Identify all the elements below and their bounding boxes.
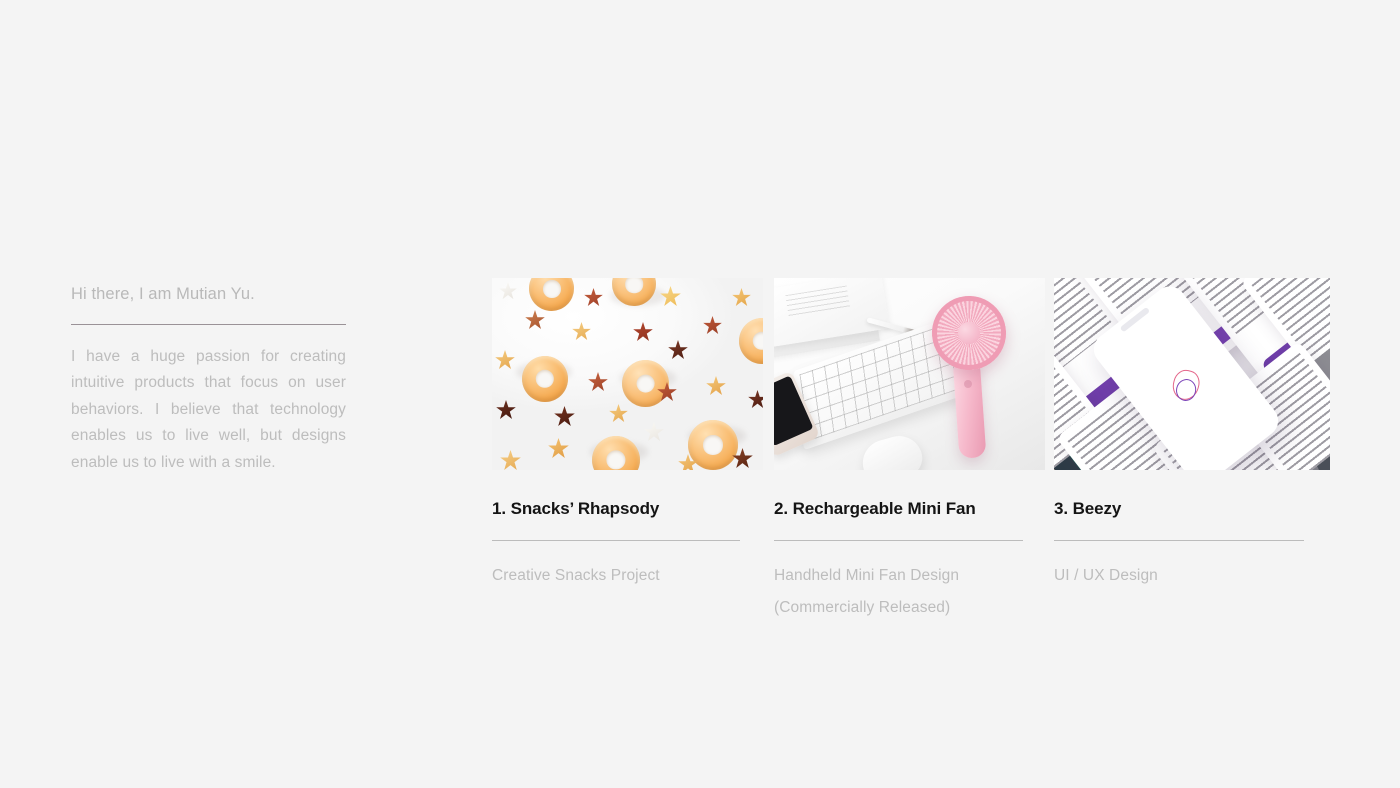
project-divider	[774, 540, 1023, 541]
intro-greeting: Hi there, I am Mutian Yu.	[71, 283, 346, 305]
project-subtitle-line1: Handheld Mini Fan Design	[774, 560, 1024, 592]
project-title: 1. Snacks’ Rhapsody	[492, 498, 763, 519]
project-title: 3. Beezy	[1054, 498, 1330, 519]
intro-divider	[71, 324, 346, 325]
project-divider	[1054, 540, 1304, 541]
project-title: 2. Rechargeable Mini Fan	[774, 498, 1045, 519]
project-grid: 1. Snacks’ Rhapsody Creative Snacks Proj…	[492, 278, 1330, 624]
project-subtitle: UI / UX Design	[1054, 560, 1330, 592]
project-card-snacks-rhapsody[interactable]: 1. Snacks’ Rhapsody Creative Snacks Proj…	[492, 278, 763, 592]
project-subtitle-line2: (Commercially Released)	[774, 592, 1024, 624]
project-subtitle: Creative Snacks Project	[492, 560, 763, 592]
intro-section: Hi there, I am Mutian Yu. I have a huge …	[71, 283, 346, 476]
project-divider	[492, 540, 740, 541]
beezy-ui-mockup-photo[interactable]	[1054, 278, 1330, 470]
snacks-flatlay-photo[interactable]	[492, 278, 763, 470]
project-card-beezy[interactable]: 3. Beezy UI / UX Design	[1054, 278, 1330, 592]
mini-fan-desk-photo[interactable]	[774, 278, 1045, 470]
intro-body-text: I have a huge passion for creating intui…	[71, 344, 346, 476]
project-subtitle: Handheld Mini Fan Design (Commercially R…	[774, 560, 1024, 624]
portfolio-page: Hi there, I am Mutian Yu. I have a huge …	[0, 0, 1400, 788]
project-card-rechargeable-mini-fan[interactable]: 2. Rechargeable Mini Fan Handheld Mini F…	[774, 278, 1045, 624]
